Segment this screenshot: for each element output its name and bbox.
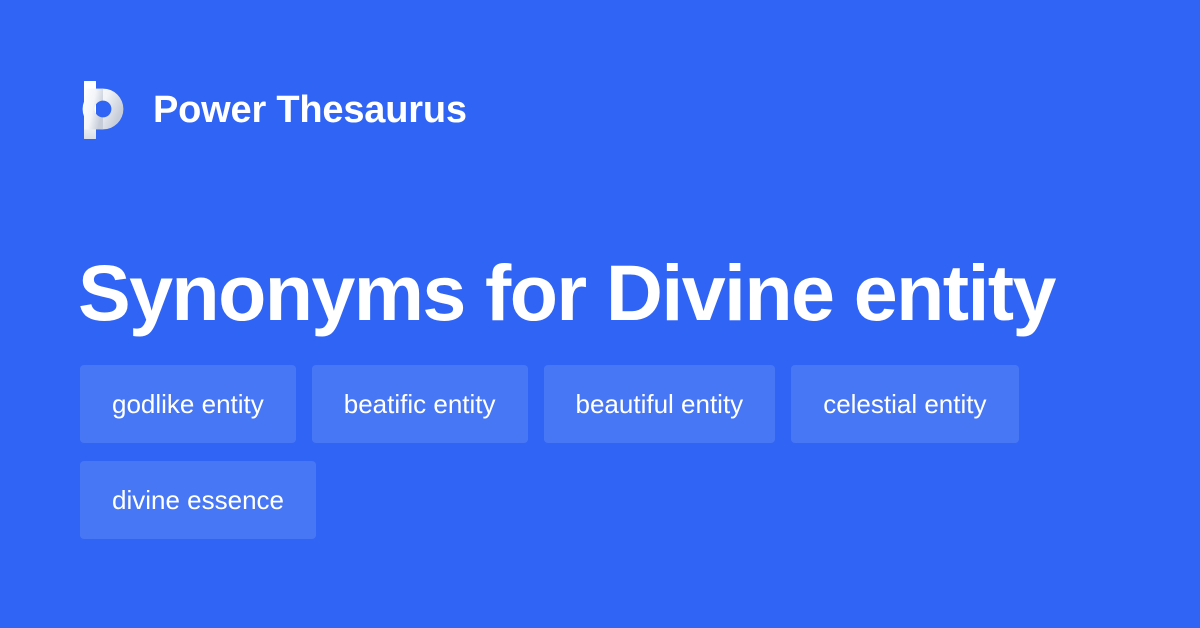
synonym-chip[interactable]: beatific entity	[312, 365, 528, 443]
share-card: Power Thesaurus Synonyms for Divine enti…	[0, 0, 1200, 628]
power-thesaurus-logo-icon	[80, 80, 128, 140]
brand-name: Power Thesaurus	[153, 91, 467, 129]
brand-lockup[interactable]: Power Thesaurus	[80, 78, 467, 142]
synonym-chip[interactable]: godlike entity	[80, 365, 296, 443]
synonym-chip[interactable]: beautiful entity	[544, 365, 776, 443]
page-title: Synonyms for Divine entity	[78, 249, 1138, 337]
synonym-chip-list: godlike entity beatific entity beautiful…	[80, 365, 1120, 539]
synonym-chip[interactable]: celestial entity	[791, 365, 1018, 443]
synonym-chip[interactable]: divine essence	[80, 461, 316, 539]
